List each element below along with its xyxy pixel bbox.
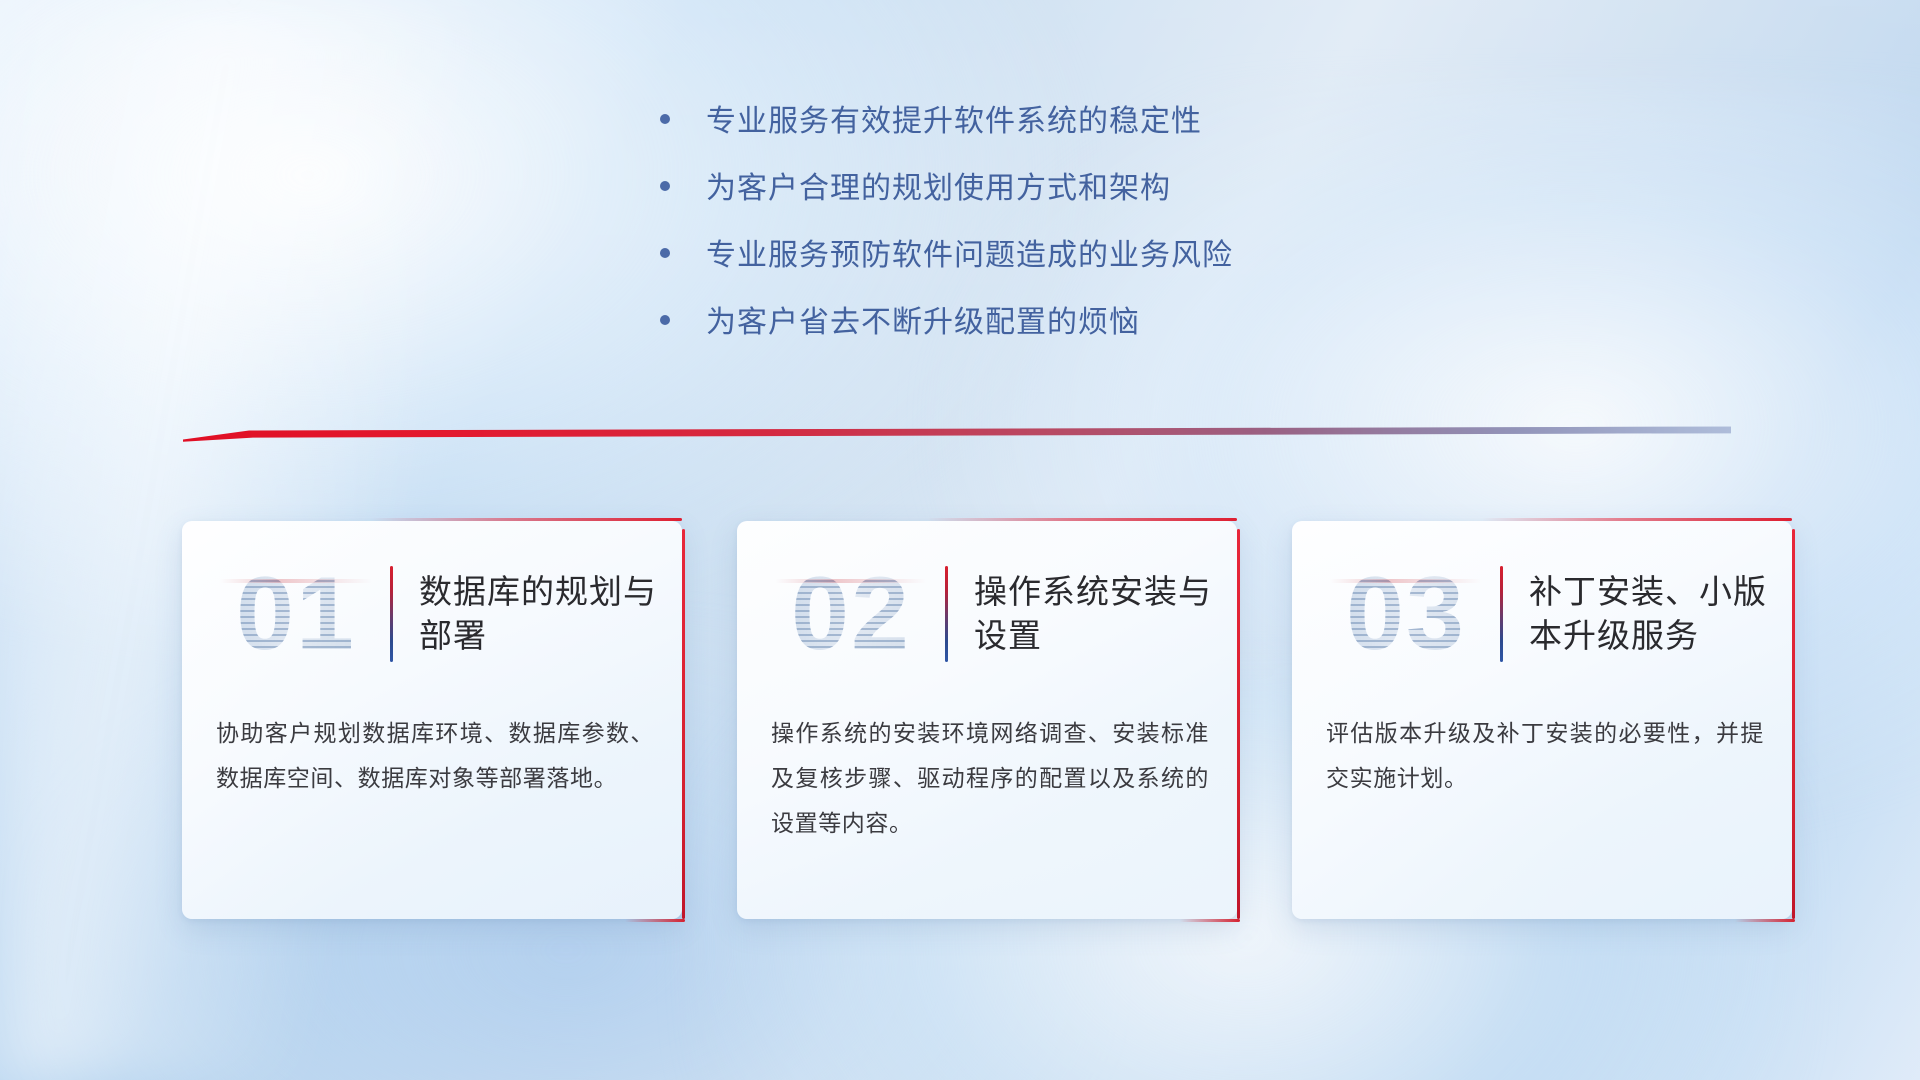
bullet-text: 为客户合理的规划使用方式和架构 bbox=[706, 171, 1171, 207]
card-header: 02 操作系统安装与设置 bbox=[737, 539, 1237, 689]
card-accent-bottom-line bbox=[1180, 919, 1240, 922]
card-divider-rule bbox=[390, 566, 393, 662]
card-accent-top-line bbox=[927, 518, 1237, 521]
card-title: 数据库的规划与部署 bbox=[419, 570, 682, 657]
card-header: 01 数据库的规划与部署 bbox=[182, 539, 682, 689]
bullet-dot-icon bbox=[660, 181, 670, 191]
card-accent-bottom-line bbox=[1735, 919, 1795, 922]
service-card-01[interactable]: 01 数据库的规划与部署 协助客户规划数据库环境、数据库参数、数据库空间、数据库… bbox=[182, 521, 682, 919]
bullet-text: 专业服务有效提升软件系统的稳定性 bbox=[706, 104, 1202, 140]
bullet-dot-icon bbox=[660, 315, 670, 325]
service-cards-row: 01 数据库的规划与部署 协助客户规划数据库环境、数据库参数、数据库空间、数据库… bbox=[182, 521, 1792, 919]
card-accent-right-line bbox=[1792, 529, 1795, 919]
card-title: 操作系统安装与设置 bbox=[974, 570, 1237, 657]
card-number-watermark: 01 bbox=[206, 562, 386, 666]
card-number-watermark: 03 bbox=[1316, 562, 1496, 666]
bullet-text: 为客户省去不断升级配置的烦恼 bbox=[706, 305, 1140, 341]
list-item: 为客户省去不断升级配置的烦恼 bbox=[660, 305, 1420, 341]
card-accent-top-line bbox=[372, 518, 682, 521]
bullet-dot-icon bbox=[660, 248, 670, 258]
card-accent-right-line bbox=[1237, 529, 1240, 919]
card-accent-right-line bbox=[682, 529, 685, 919]
service-card-03[interactable]: 03 补丁安装、小版本升级服务 评估版本升级及补丁安装的必要性，并提交实施计划。 bbox=[1292, 521, 1792, 919]
card-accent-bottom-line bbox=[625, 919, 685, 922]
slide-canvas: 专业服务有效提升软件系统的稳定性 为客户合理的规划使用方式和架构 专业服务预防软… bbox=[0, 0, 1920, 1080]
section-divider bbox=[183, 426, 1731, 448]
card-header: 03 补丁安装、小版本升级服务 bbox=[1292, 539, 1792, 689]
card-body-text: 评估版本升级及补丁安装的必要性，并提交实施计划。 bbox=[1326, 711, 1764, 801]
card-body-text: 协助客户规划数据库环境、数据库参数、数据库空间、数据库对象等部署落地。 bbox=[216, 711, 654, 801]
card-divider-rule bbox=[1500, 566, 1503, 662]
card-divider-rule bbox=[945, 566, 948, 662]
bullet-dot-icon bbox=[660, 114, 670, 124]
list-item: 专业服务有效提升软件系统的稳定性 bbox=[660, 104, 1420, 140]
card-title: 补丁安装、小版本升级服务 bbox=[1529, 570, 1792, 657]
tapered-divider-shape bbox=[183, 426, 1731, 448]
list-item: 专业服务预防软件问题造成的业务风险 bbox=[660, 238, 1420, 274]
card-body-text: 操作系统的安装环境网络调查、安装标准及复核步骤、驱动程序的配置以及系统的设置等内… bbox=[771, 711, 1209, 846]
service-card-02[interactable]: 02 操作系统安装与设置 操作系统的安装环境网络调查、安装标准及复核步骤、驱动程… bbox=[737, 521, 1237, 919]
list-item: 为客户合理的规划使用方式和架构 bbox=[660, 171, 1420, 207]
benefits-bullet-list: 专业服务有效提升软件系统的稳定性 为客户合理的规划使用方式和架构 专业服务预防软… bbox=[660, 104, 1420, 372]
card-number-watermark: 02 bbox=[761, 562, 941, 666]
card-accent-top-line bbox=[1482, 518, 1792, 521]
bullet-text: 专业服务预防软件问题造成的业务风险 bbox=[706, 238, 1233, 274]
